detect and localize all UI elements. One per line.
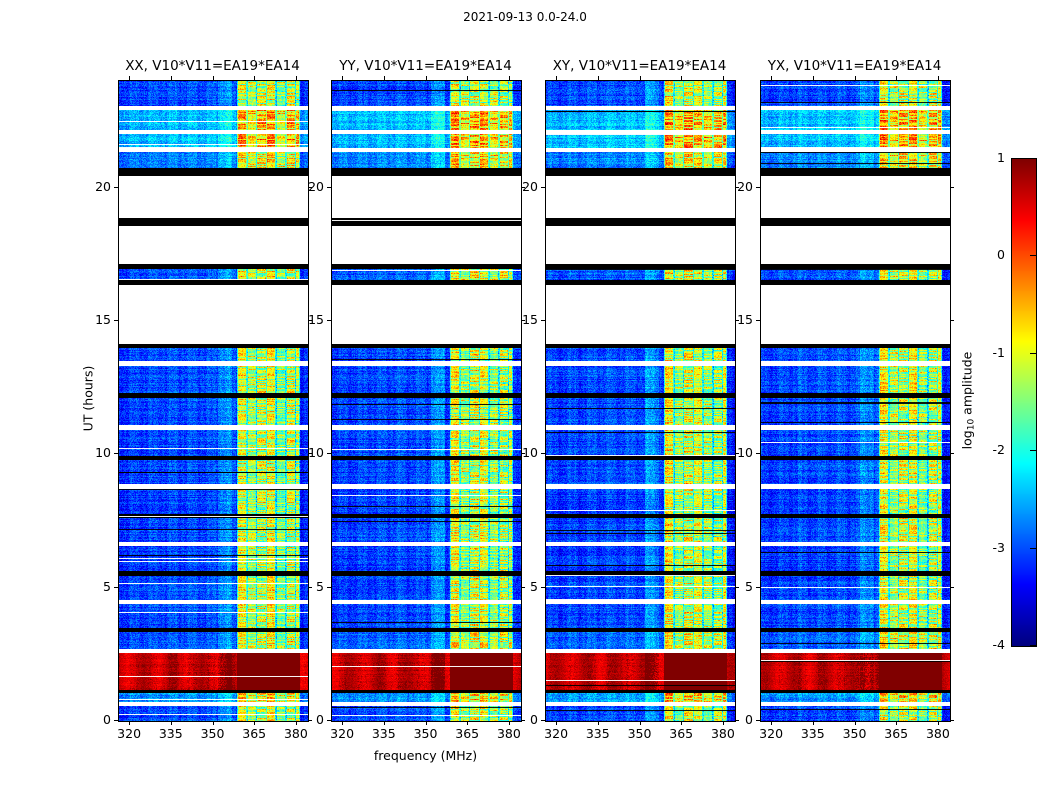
- y-tick-mark: [114, 320, 118, 321]
- y-tick-mark: [327, 587, 331, 588]
- y-tick-label: 15: [500, 312, 538, 327]
- x-tick-mark: [896, 76, 897, 80]
- x-tick-mark: [426, 76, 427, 80]
- y-tick-label: 20: [286, 179, 324, 194]
- y-tick-mark: [756, 720, 760, 721]
- x-tick-mark: [723, 76, 724, 80]
- x-tick-mark: [723, 721, 724, 725]
- x-tick-mark: [342, 721, 343, 725]
- y-tick-mark: [114, 453, 118, 454]
- x-tick-mark: [171, 76, 172, 80]
- x-tick-mark: [254, 721, 255, 725]
- y-tick-label: 15: [715, 312, 753, 327]
- waterfall-image-xx: [119, 81, 308, 721]
- waterfall-image-yy: [332, 81, 521, 721]
- waterfall-panel-yx[interactable]: [760, 80, 951, 722]
- x-tick-mark: [556, 76, 557, 80]
- y-tick-mark: [950, 187, 954, 188]
- y-tick-label: 0: [500, 712, 538, 727]
- x-tick-mark: [296, 76, 297, 80]
- y-tick-mark: [756, 187, 760, 188]
- x-tick-mark: [426, 721, 427, 725]
- x-tick-mark: [129, 721, 130, 725]
- x-tick-mark: [598, 76, 599, 80]
- x-tick-mark: [896, 721, 897, 725]
- colorbar-tick-label: -2: [969, 442, 1005, 457]
- y-tick-label: 10: [500, 445, 538, 460]
- x-tick-mark: [598, 721, 599, 725]
- waterfall-panel-yy[interactable]: [331, 80, 522, 722]
- y-tick-label: 5: [715, 579, 753, 594]
- colorbar-label-suffix: amplitude: [960, 351, 975, 418]
- x-tick-label: 380: [271, 726, 321, 741]
- x-tick-mark: [771, 76, 772, 80]
- y-tick-mark: [756, 587, 760, 588]
- y-tick-mark: [327, 187, 331, 188]
- x-tick-mark: [855, 721, 856, 725]
- x-tick-mark: [681, 721, 682, 725]
- x-tick-mark: [254, 76, 255, 80]
- y-tick-label: 0: [715, 712, 753, 727]
- y-tick-mark: [327, 320, 331, 321]
- x-tick-label: 380: [913, 726, 963, 741]
- x-tick-mark: [855, 76, 856, 80]
- y-tick-label: 5: [286, 579, 324, 594]
- colorbar-tick-mark: [1030, 158, 1036, 159]
- colorbar-tick-mark: [1030, 255, 1036, 256]
- x-tick-label: 380: [484, 726, 534, 741]
- colorbar-tick-mark: [1030, 548, 1036, 549]
- colorbar-tick-label: 0: [969, 247, 1005, 262]
- x-tick-mark: [467, 76, 468, 80]
- y-tick-label: 15: [286, 312, 324, 327]
- x-tick-mark: [213, 76, 214, 80]
- x-tick-mark: [296, 721, 297, 725]
- x-tick-mark: [938, 76, 939, 80]
- colorbar-tick-mark: [1030, 645, 1036, 646]
- x-tick-mark: [771, 721, 772, 725]
- x-tick-mark: [467, 721, 468, 725]
- x-tick-mark: [509, 76, 510, 80]
- x-tick-mark: [384, 721, 385, 725]
- waterfall-image-yx: [761, 81, 950, 721]
- y-tick-mark: [756, 453, 760, 454]
- y-tick-mark: [114, 587, 118, 588]
- y-tick-mark: [327, 720, 331, 721]
- x-tick-mark: [813, 76, 814, 80]
- colorbar-tick-label: -3: [969, 540, 1005, 555]
- x-axis-label: frequency (MHz): [346, 748, 506, 763]
- figure-canvas: 2021-09-13 0.0-24.0 XX, V10*V11=EA19*EA1…: [0, 0, 1050, 800]
- x-tick-mark: [213, 721, 214, 725]
- y-tick-mark: [541, 187, 545, 188]
- colorbar-tick-mark: [1030, 450, 1036, 451]
- x-tick-mark: [813, 721, 814, 725]
- y-tick-mark: [114, 720, 118, 721]
- x-tick-mark: [938, 721, 939, 725]
- y-axis-label: UT (hours): [81, 349, 96, 449]
- y-tick-mark: [327, 453, 331, 454]
- y-tick-label: 20: [73, 179, 111, 194]
- y-tick-label: 20: [500, 179, 538, 194]
- x-tick-mark: [171, 721, 172, 725]
- x-tick-mark: [640, 76, 641, 80]
- panel-title-yx: YX, V10*V11=EA19*EA14: [720, 58, 989, 74]
- x-tick-mark: [342, 76, 343, 80]
- y-tick-label: 0: [286, 712, 324, 727]
- x-tick-mark: [556, 721, 557, 725]
- y-tick-mark: [114, 187, 118, 188]
- colorbar-tick-label: -4: [969, 637, 1005, 652]
- y-tick-mark: [541, 320, 545, 321]
- waterfall-panel-xy[interactable]: [545, 80, 736, 722]
- y-tick-label: 10: [286, 445, 324, 460]
- colorbar-tick-label: -1: [969, 345, 1005, 360]
- y-tick-mark: [756, 320, 760, 321]
- y-tick-label: 15: [73, 312, 111, 327]
- x-tick-mark: [640, 721, 641, 725]
- y-tick-label: 5: [500, 579, 538, 594]
- y-tick-label: 10: [73, 445, 111, 460]
- x-tick-mark: [384, 76, 385, 80]
- colorbar-label-sub: 10: [967, 418, 977, 429]
- colorbar-tick-mark: [1030, 353, 1036, 354]
- y-tick-mark: [541, 587, 545, 588]
- y-tick-label: 10: [715, 445, 753, 460]
- x-tick-mark: [509, 721, 510, 725]
- y-tick-mark: [950, 453, 954, 454]
- y-tick-mark: [950, 587, 954, 588]
- colorbar-tick-label: 1: [969, 150, 1005, 165]
- waterfall-panel-xx[interactable]: [118, 80, 309, 722]
- y-tick-mark: [950, 320, 954, 321]
- x-tick-mark: [129, 76, 130, 80]
- y-tick-mark: [541, 453, 545, 454]
- x-tick-mark: [681, 76, 682, 80]
- y-tick-mark: [541, 720, 545, 721]
- y-tick-label: 20: [715, 179, 753, 194]
- y-tick-mark: [950, 720, 954, 721]
- colorbar: [1011, 158, 1037, 647]
- x-tick-label: 380: [698, 726, 748, 741]
- y-tick-label: 0: [73, 712, 111, 727]
- waterfall-image-xy: [546, 81, 735, 721]
- figure-suptitle: 2021-09-13 0.0-24.0: [0, 10, 1050, 24]
- y-tick-label: 5: [73, 579, 111, 594]
